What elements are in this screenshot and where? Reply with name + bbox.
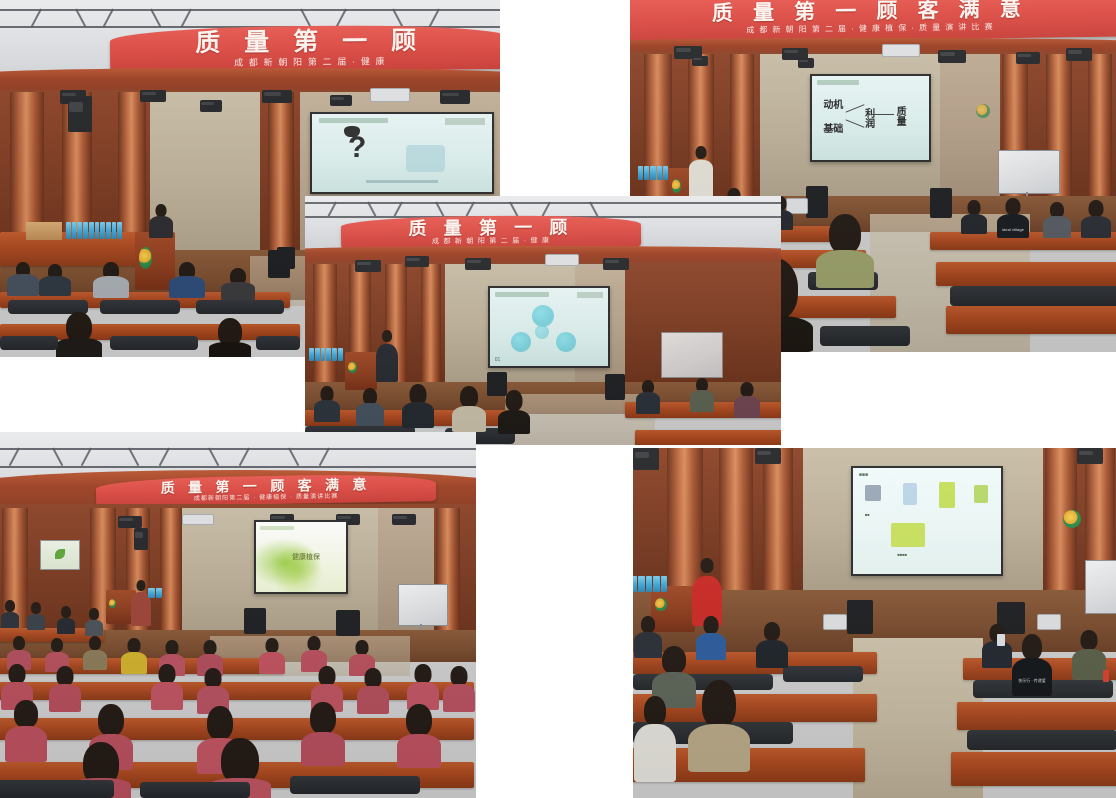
- head: [1081, 630, 1098, 650]
- stage-light: [938, 50, 966, 63]
- head: [406, 704, 432, 736]
- audience-seat: [783, 666, 863, 682]
- slide-header-bar: [319, 118, 387, 123]
- stage-light: [134, 528, 148, 550]
- head: [644, 696, 666, 726]
- audience-member: [960, 200, 988, 234]
- speaker: [130, 580, 152, 626]
- torso: [498, 410, 530, 434]
- torso: [259, 652, 285, 674]
- slide-body-graphic: [406, 145, 446, 172]
- audience-member: [38, 264, 72, 296]
- slide-label-dongji: 动机: [823, 101, 843, 111]
- slide-bubble-diagram: [490, 288, 608, 366]
- audience-member-uniform: [4, 700, 48, 762]
- banner-sub-text: 成都新朝阳第二届 · 健康植保 · 质量演讲比赛: [194, 494, 339, 503]
- audience-seat: [290, 776, 420, 794]
- head: [166, 640, 179, 655]
- product-card: [903, 483, 917, 505]
- wall-pillar: [1088, 54, 1112, 204]
- head: [13, 636, 25, 650]
- audience-member: [56, 606, 76, 634]
- audience-member: [26, 602, 46, 630]
- product-card: [939, 482, 955, 508]
- torso: [452, 406, 486, 432]
- product-card: [865, 485, 881, 501]
- torso: [397, 734, 441, 768]
- audience-member: [1080, 200, 1112, 238]
- whiteboard: [998, 150, 1060, 194]
- equipment-cart: [1037, 614, 1061, 630]
- audience-seat: [0, 336, 58, 350]
- audience-member: [687, 680, 751, 772]
- company-logo: [348, 362, 356, 373]
- speaker-torso: [149, 216, 173, 238]
- product-highlight-card: [891, 523, 925, 547]
- audience-member: [401, 384, 435, 428]
- product-caption: ■■■■: [897, 553, 907, 557]
- jacket-print: 快乐行 · 传递爱: [1014, 678, 1050, 684]
- torso: [85, 620, 103, 636]
- audience-member: [755, 622, 789, 668]
- head: [5, 600, 15, 612]
- head: [89, 636, 101, 650]
- torso: [357, 686, 389, 714]
- truss-beam: [0, 466, 476, 468]
- wall-pillar: [421, 264, 441, 386]
- stage-light: [392, 514, 416, 525]
- torso: [93, 276, 129, 298]
- speaker: [375, 330, 399, 382]
- projection-screen: 健康植保: [254, 520, 348, 594]
- head: [506, 390, 523, 411]
- banner-sub-text: 成 都 新 朝 阳 第 二 届 · 健 康 植 保 · 质 量 演 讲 比 赛: [746, 23, 994, 34]
- torso: [1072, 649, 1106, 680]
- audience-desk-row: [957, 702, 1116, 730]
- head: [1022, 634, 1042, 660]
- slide-title: ■■■: [859, 473, 868, 478]
- audience-desk-row: [946, 306, 1116, 334]
- floor-speaker: [244, 608, 266, 634]
- stage-light: [692, 56, 708, 66]
- stage-light: [262, 90, 292, 103]
- torso: [314, 400, 340, 422]
- audience-member: [689, 378, 715, 412]
- audience-member-uniform: [48, 666, 82, 712]
- company-logo: [139, 247, 152, 269]
- company-logo: [655, 598, 666, 611]
- banner-main-text: 质 量 第 一 顾 客 满 意: [160, 477, 371, 495]
- projection-screen: ■■■ ■■ ■■■■: [851, 466, 1003, 576]
- audience-member: [120, 638, 148, 674]
- head: [266, 638, 279, 653]
- wall-pillar: [313, 264, 337, 386]
- audience-member-uniform: [442, 666, 476, 712]
- torso: [961, 214, 987, 234]
- head: [365, 668, 382, 688]
- audience-seat: [110, 336, 198, 350]
- audience-member: [981, 624, 1013, 668]
- audience-member: [451, 386, 487, 432]
- audience-member: [633, 696, 677, 782]
- jacket-print: ideal village: [1000, 227, 1026, 232]
- slide-title-main: 健康植保: [292, 554, 320, 561]
- head: [204, 640, 217, 655]
- audience-member: [6, 262, 40, 296]
- wall-panel: [940, 54, 1000, 204]
- speaker-torso: [376, 344, 398, 382]
- leaf-logo-icon: [55, 549, 65, 559]
- slide-header-bar: [260, 526, 294, 531]
- bubble-left: [511, 332, 531, 352]
- wall-pillar: [268, 92, 294, 262]
- speaker-box: [68, 96, 92, 132]
- head: [9, 664, 26, 684]
- arrow-to-jichu: [845, 119, 864, 127]
- torso: [1012, 658, 1052, 696]
- head: [968, 200, 981, 215]
- slide-leaf-title: 健康植保: [256, 522, 346, 592]
- audience-member-uniform: [356, 668, 390, 714]
- head: [319, 666, 336, 686]
- audience-member: [1042, 202, 1072, 238]
- floor-speaker: [847, 600, 873, 634]
- banner-main-text: 质 量 第 一 顾: [408, 218, 573, 237]
- torso: [443, 684, 475, 712]
- audience-member: [208, 318, 252, 357]
- head: [1089, 200, 1104, 217]
- water-bottles: [633, 576, 667, 592]
- floor-speaker: [277, 247, 295, 269]
- torso: [688, 724, 750, 772]
- head: [205, 668, 222, 688]
- audience-seat: [0, 780, 114, 798]
- torso: [696, 633, 726, 660]
- torso: [121, 652, 147, 674]
- ceiling-projector: [182, 514, 214, 525]
- banner-main-text: 质 量 第 一 顾 客 满 意: [712, 0, 1028, 25]
- audience-seat: [100, 300, 180, 314]
- audience-member: [220, 268, 256, 300]
- wall-pillar: [763, 448, 793, 598]
- water-bottles: [66, 222, 122, 239]
- head: [128, 638, 141, 653]
- audience-desk-row: [951, 752, 1116, 786]
- torso: [690, 390, 714, 412]
- product-card: [974, 485, 988, 503]
- projection-screen: ?: [310, 112, 494, 194]
- head: [89, 608, 99, 620]
- bubble-center: [535, 325, 549, 339]
- wall-logo: [976, 104, 990, 118]
- carton-box: [26, 222, 62, 240]
- torso: [734, 396, 760, 418]
- podium: [345, 352, 377, 390]
- audience-member: [313, 386, 341, 422]
- audience-member: [1071, 630, 1107, 680]
- torso: [1, 612, 19, 628]
- head: [704, 616, 719, 634]
- event-banner: 质 量 第 一 顾 成 都 新 朝 阳 第 二 届 · 健 康: [110, 24, 500, 73]
- speaker-head: [701, 558, 714, 573]
- head: [662, 646, 686, 674]
- product-label: ■■: [865, 513, 870, 517]
- ceiling-projector: [370, 88, 410, 102]
- arrow-zhiliang-to-lirun: [872, 114, 894, 115]
- head: [1006, 198, 1021, 215]
- equipment-cart: [823, 614, 847, 630]
- slide-label-lirun: 利润: [863, 108, 873, 128]
- truss-beam: [305, 202, 781, 204]
- torso: [997, 214, 1029, 238]
- torso: [402, 402, 434, 428]
- head: [159, 664, 176, 684]
- audience-member-uniform: [300, 702, 346, 766]
- torso: [221, 282, 255, 300]
- torso: [756, 640, 788, 668]
- bubble-right: [556, 332, 576, 352]
- audience-member-uniform: [258, 638, 286, 674]
- head: [310, 702, 336, 734]
- audience-member-uniform: [396, 704, 442, 768]
- event-banner: 质 量 第 一 顾 成 都 新 朝 阳 第 二 届 · 健 康: [341, 215, 641, 250]
- slide-arrow-diagram: 动机 基础 利润 质量: [821, 88, 919, 149]
- audience-member: [816, 214, 874, 288]
- slide-label-jichu: 基础: [823, 125, 843, 135]
- slide-header-bar: [817, 80, 859, 85]
- torso: [1081, 216, 1111, 238]
- speaker: [688, 146, 714, 202]
- company-logo: [109, 599, 116, 608]
- arrow-to-dongji: [845, 105, 864, 113]
- audience-seat: [820, 326, 910, 346]
- audience-seat: [950, 286, 1116, 306]
- wall-logo: [1063, 510, 1081, 528]
- floor-speaker: [605, 374, 625, 400]
- head: [207, 706, 233, 740]
- torso: [5, 726, 47, 762]
- stage-light: [465, 258, 491, 270]
- banner-sub-text: 成 都 新 朝 阳 第 二 届 · 健 康: [432, 238, 550, 246]
- audience-member: [635, 380, 661, 414]
- photo-center[interactable]: 质 量 第 一 顾 成 都 新 朝 阳 第 二 届 · 健 康: [305, 196, 781, 445]
- audience-member: [168, 262, 206, 298]
- head: [51, 638, 63, 652]
- floor-speaker: [336, 610, 360, 636]
- company-logo: [672, 179, 681, 192]
- stage-light: [118, 516, 142, 528]
- head: [702, 680, 736, 728]
- torso: [209, 342, 251, 357]
- slide-footer-text: [366, 180, 438, 184]
- side-display: [40, 540, 80, 570]
- whiteboard: [1085, 560, 1116, 614]
- audience-seat: [196, 300, 284, 314]
- torso: [7, 274, 39, 296]
- ceiling-projector: [882, 44, 920, 57]
- torso: [57, 618, 75, 634]
- head: [460, 386, 478, 408]
- head: [356, 640, 369, 655]
- wall-pillar: [719, 448, 753, 598]
- torso: [151, 682, 183, 710]
- head: [741, 382, 754, 397]
- slide-label-zhiliang: 质量: [894, 106, 904, 126]
- banner-sub-text: 成 都 新 朝 阳 第 二 届 · 健 康: [234, 57, 386, 68]
- audience-member: [497, 390, 531, 434]
- head: [57, 666, 74, 686]
- stage-light: [200, 100, 222, 112]
- stage-light: [1066, 48, 1092, 61]
- speaker-head: [137, 580, 146, 591]
- speaker-head: [382, 330, 392, 342]
- audience-desk-row: [635, 430, 781, 445]
- head: [14, 700, 38, 728]
- drink-bottle: [1103, 670, 1109, 682]
- slide-page-number: 01: [495, 357, 501, 363]
- audience-member: [55, 312, 103, 357]
- audience-member: [84, 608, 104, 636]
- audience-seat: [256, 336, 300, 350]
- event-banner: 质 量 第 一 顾 客 满 意 成 都 新 朝 阳 第 二 届 · 健 康 植 …: [630, 0, 1116, 43]
- stage-light: [355, 260, 381, 272]
- floor-speaker: [930, 188, 952, 218]
- audience-seat: [140, 782, 250, 798]
- speaker-head: [696, 146, 707, 159]
- torso: [169, 276, 205, 298]
- projection-screen: 动机 基础 利润 质量: [810, 74, 931, 162]
- banner-main-text: 质 量 第 一 顾: [195, 29, 425, 56]
- slide-tab: [445, 118, 485, 125]
- water-bottles: [148, 588, 162, 598]
- stage-light: [755, 448, 781, 464]
- bubble-top: [532, 305, 554, 327]
- water-bottles: [638, 166, 668, 180]
- torso: [39, 276, 71, 296]
- head: [61, 606, 71, 618]
- torso: [636, 392, 660, 414]
- whiteboard: [398, 584, 448, 626]
- projection-screen: 01: [488, 286, 610, 368]
- ceiling-projector: [545, 254, 579, 266]
- torso: [83, 650, 107, 670]
- stage-light: [798, 58, 814, 68]
- audience-member: [92, 262, 130, 298]
- stage-light: [440, 90, 470, 104]
- truss-beam: [0, 448, 476, 450]
- torso: [49, 684, 81, 712]
- phone-held-up: [997, 634, 1005, 646]
- audience-member-uniform: [150, 664, 184, 710]
- photo-bottom-right[interactable]: ■■■ ■■ ■■■■: [633, 448, 1116, 798]
- head: [98, 704, 124, 736]
- head: [451, 666, 468, 686]
- torso: [27, 614, 45, 630]
- whiteboard: [661, 332, 723, 378]
- stage-light: [330, 95, 352, 106]
- audience-member: [355, 388, 385, 426]
- torso: [816, 250, 874, 288]
- stage-light: [1016, 52, 1040, 64]
- slide-product-grid: ■■■ ■■ ■■■■: [853, 468, 1001, 574]
- audience-member: [82, 636, 108, 670]
- stage-light: [405, 256, 429, 267]
- torso: [301, 732, 345, 766]
- stage-light: [603, 258, 629, 270]
- head: [31, 602, 41, 614]
- audience-member: [733, 382, 761, 418]
- photo-collage: 质 量 第 一 顾 成 都 新 朝 阳 第 二 届 · 健 康: [0, 0, 1116, 798]
- torso: [634, 724, 676, 782]
- audience-seat: [967, 730, 1116, 750]
- audience-member: [0, 600, 20, 628]
- torso: [356, 403, 384, 426]
- photo-bottom-left[interactable]: 质 量 第 一 顾 客 满 意 成都新朝阳第二届 · 健康植保 · 质量演讲比赛: [0, 432, 476, 798]
- head: [641, 616, 655, 633]
- stage-light: [1077, 448, 1103, 464]
- torso: [56, 338, 102, 357]
- wall-pillar: [730, 54, 754, 204]
- audience-member: [695, 616, 727, 660]
- stage-light: [633, 448, 659, 470]
- audience-member-uniform: ideal village: [996, 198, 1030, 238]
- water-bottles: [309, 348, 343, 361]
- audience-desk-row: [936, 262, 1116, 286]
- head: [415, 664, 432, 684]
- head: [764, 622, 780, 641]
- head: [308, 636, 321, 651]
- head: [829, 214, 861, 254]
- stage-light: [140, 90, 166, 102]
- speaker: [148, 204, 174, 238]
- audience-member-uniform: 快乐行 · 传递爱: [1011, 634, 1053, 696]
- wall-pillar: [160, 508, 182, 640]
- torso: [1043, 216, 1071, 238]
